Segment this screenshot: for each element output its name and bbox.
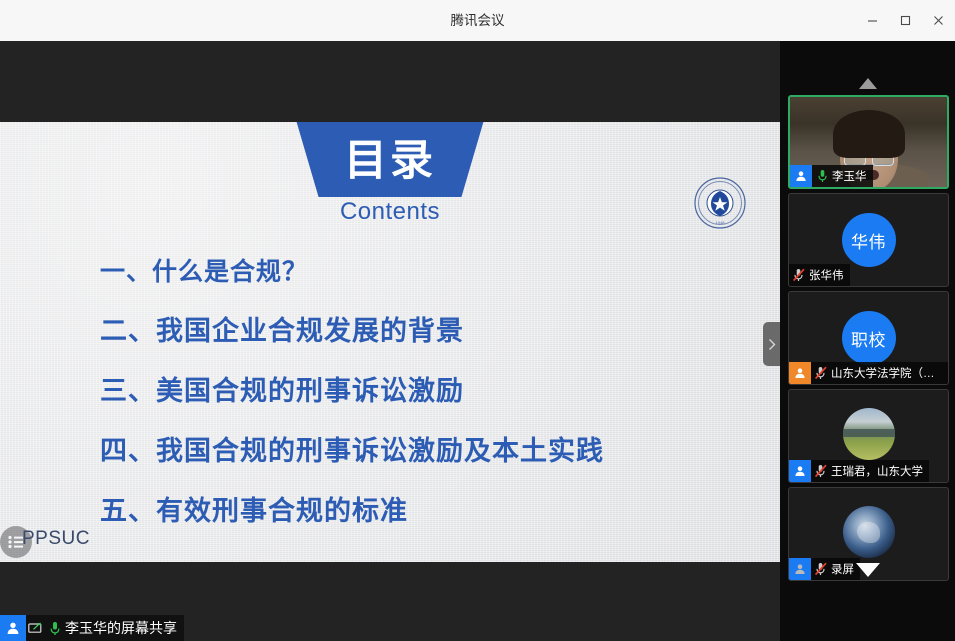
toc-item-4: 四、我国合规的刑事诉讼激励及本土实践 [100, 429, 740, 468]
participant-name: 王瑞君，山东大学 [831, 463, 929, 479]
microphone-icon [45, 615, 64, 641]
presentation-slide: 目录 Contents 1948 一、什么是合规？ 二、我国企业合规发展的背景 … [0, 122, 780, 562]
person-icon [790, 165, 812, 187]
avatar: 华伟 [842, 213, 896, 267]
tencent-meeting-window: 腾讯会议 录 [0, 0, 955, 641]
triangle-up-icon[interactable] [859, 78, 877, 89]
recording-strip [0, 41, 780, 122]
avatar [843, 506, 895, 558]
chevron-right-icon [768, 338, 776, 351]
microphone-muted-icon [811, 362, 831, 384]
toc-item-5: 五、有效刑事合规的标准 [100, 489, 740, 528]
maximize-button[interactable] [889, 0, 922, 41]
collapse-panel-handle[interactable] [763, 322, 780, 366]
shared-screen-stage: 录制中 目录 Contents 1948 一、什么是合规？ 二、我国企业合规发展… [0, 41, 780, 641]
presenter-name-label: 李玉华的屏幕共享 [64, 618, 184, 638]
minimize-icon [867, 15, 878, 26]
close-button[interactable] [922, 0, 955, 41]
video-hair [833, 110, 905, 158]
participant-tile[interactable]: 李玉华 [788, 95, 949, 189]
participants-rail: 李玉华 华伟 张华伟 职校 [780, 41, 955, 641]
slide-contents-list: 一、什么是合规？ 二、我国企业合规发展的背景 三、美国合规的刑事诉讼激励 四、我… [100, 252, 740, 528]
person-icon [0, 615, 26, 641]
participant-name: 山东大学法学院（威... [831, 365, 948, 381]
microphone-muted-icon [811, 460, 831, 482]
participant-name-chip: 山东大学法学院（威... [789, 362, 948, 384]
minimize-button[interactable] [856, 0, 889, 41]
svg-text:1948: 1948 [716, 220, 726, 225]
participant-name-chip: 王瑞君，山东大学 [789, 460, 929, 482]
participant-name: 张华伟 [809, 267, 850, 283]
participant-name-chip: 张华伟 [789, 264, 850, 286]
toc-item-2: 二、我国企业合规发展的背景 [100, 309, 740, 348]
triangle-down-icon[interactable] [856, 563, 880, 577]
avatar-image [843, 506, 895, 558]
title-bar: 腾讯会议 [0, 0, 955, 42]
participant-name-chip: 李玉华 [790, 165, 873, 187]
toc-item-3: 三、美国合规的刑事诉讼激励 [100, 369, 740, 408]
avatar [843, 408, 895, 460]
participant-name-chip: 录屏 [789, 558, 860, 580]
participant-tile[interactable]: 职校 山东大学法学院（威... [788, 291, 949, 385]
person-icon [789, 558, 811, 580]
microphone-muted-icon [789, 264, 809, 286]
slide-banner-subtitle: Contents [296, 198, 484, 226]
participant-tile[interactable]: 华伟 张华伟 [788, 193, 949, 287]
avatar: 职校 [842, 311, 896, 365]
screen-share-label-bar: 李玉华的屏幕共享 [0, 615, 184, 641]
window-controls [856, 0, 955, 41]
person-icon [789, 460, 811, 482]
microphone-muted-icon [811, 558, 831, 580]
university-seal-icon: 1948 [694, 177, 746, 229]
slide-banner-title: 目录 [296, 130, 484, 192]
participant-tile[interactable]: 王瑞君，山东大学 [788, 389, 949, 483]
maximize-icon [900, 15, 911, 26]
slide-footer-text: PPSUC [22, 528, 90, 550]
host-person-icon [789, 362, 811, 384]
microphone-on-icon [812, 165, 832, 187]
avatar-image [843, 408, 895, 460]
screen-share-icon [26, 615, 45, 641]
window-title: 腾讯会议 [0, 0, 955, 41]
toc-item-1: 一、什么是合规？ [100, 252, 740, 288]
participant-name: 李玉华 [832, 168, 873, 184]
close-icon [933, 15, 944, 26]
